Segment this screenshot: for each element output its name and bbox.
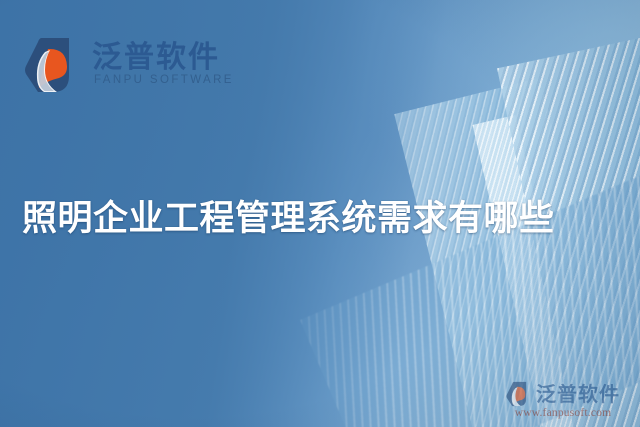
- headline-title: 照明企业工程管理系统需求有哪些: [22, 198, 622, 242]
- brand-logo[interactable]: 泛普软件 FANPU SOFTWARE: [24, 36, 234, 94]
- promo-banner: 泛普软件 FANPU SOFTWARE 照明企业工程管理系统需求有哪些 泛普软件…: [0, 0, 640, 427]
- watermark-logo-row: 泛普软件: [506, 381, 620, 407]
- watermark: 泛普软件 www.fanpusoft.com: [494, 381, 632, 420]
- watermark-name-cn: 泛普软件: [536, 384, 620, 404]
- brand-wordmark: 泛普软件 FANPU SOFTWARE: [92, 43, 234, 87]
- fanpu-watermark-mark-icon: [506, 381, 532, 407]
- brand-name-cn: 泛普软件: [92, 43, 234, 73]
- brand-name-en: FANPU SOFTWARE: [92, 75, 234, 87]
- fanpu-logo-mark-icon: [24, 36, 82, 94]
- watermark-url: www.fanpusoft.com: [515, 408, 612, 420]
